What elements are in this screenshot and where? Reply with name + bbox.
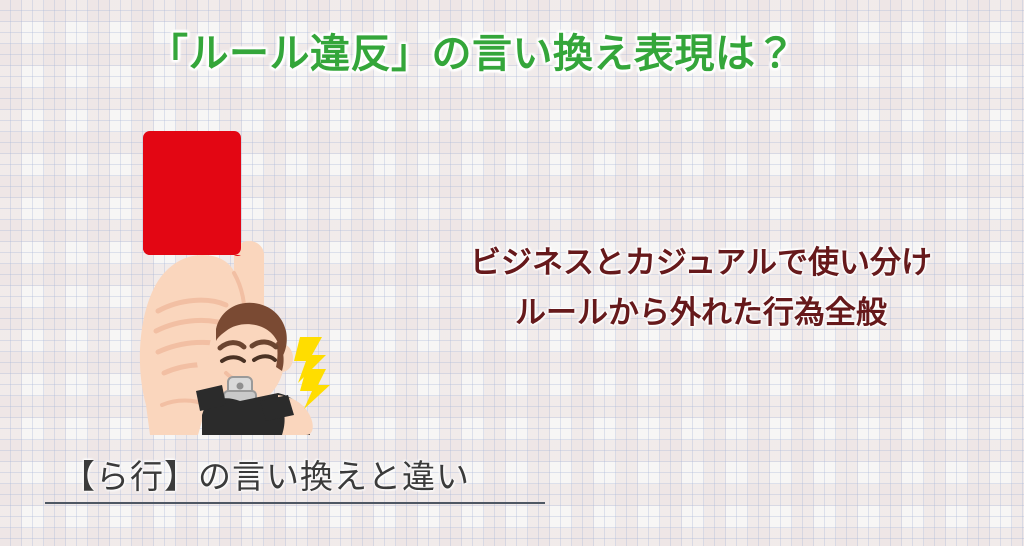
body-copy-line-1: ビジネスとカジュアルで使い分け [444, 238, 958, 288]
footer-divider [45, 502, 545, 504]
category-label: 【ら行】の言い換えと違い [45, 450, 545, 498]
referee-red-card-illustration [110, 105, 360, 435]
body-copy-line-2: ルールから外れた行為全般 [444, 288, 958, 338]
red-card-lower-edge [143, 223, 241, 256]
footer-block: 【ら行】の言い換えと違い [45, 450, 545, 504]
lightning-bolt-group [294, 337, 330, 409]
whistle-hole [237, 383, 244, 390]
page-title: 「ルール違反」の言い換え表現は？ [0, 31, 944, 77]
illustration-svg [110, 105, 360, 435]
lightning-bolt-lower [300, 369, 330, 409]
slide-canvas: 「ルール違反」の言い換え表現は？ [0, 0, 1024, 546]
body-copy: ビジネスとカジュアルで使い分け ルールから外れた行為全般 [444, 238, 958, 338]
